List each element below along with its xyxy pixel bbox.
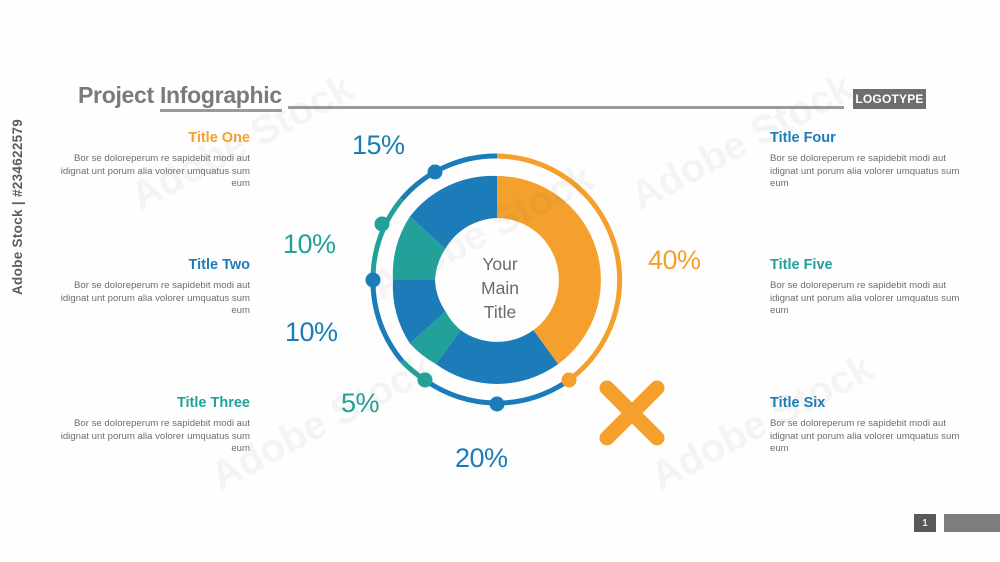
dot-20 [490,397,505,412]
block-body-three: Bor se doloreperum re sapidebit modi aut… [58,418,250,456]
block-title-four: Title Four [770,130,962,146]
block-body-one: Bor se doloreperum re sapidebit modi aut… [58,153,250,191]
percent-label-10b: 10% [285,317,338,348]
dot-10b [366,273,381,288]
dot-40 [562,373,577,388]
text-block-title-four: Title Four Bor se doloreperum re sapideb… [770,130,962,191]
block-title-one: Title One [58,130,250,146]
block-body-six: Bor se doloreperum re sapidebit modi aut… [770,418,962,456]
donut-center-title: Your Main Title [447,252,553,324]
center-line-2: Main [447,276,553,300]
slide-header: Project Infographic LOGOTYPE [0,40,1000,80]
center-line-3: Title [447,300,553,324]
block-body-five: Bor se doloreperum re sapidebit modi aut… [770,280,962,318]
watermark-left: Adobe Stock | #234622579 [10,119,25,295]
block-body-four: Bor se doloreperum re sapidebit modi aut… [770,153,962,191]
footer-bar [944,514,1000,532]
text-block-title-six: Title Six Bor se doloreperum re sapidebi… [770,395,962,456]
percent-label-5: 5% [341,388,379,419]
percent-label-15: 15% [352,130,405,161]
block-title-five: Title Five [770,257,962,273]
page-number-badge: 1 [914,514,936,532]
center-line-1: Your [447,252,553,276]
percent-label-40: 40% [648,245,701,276]
block-body-two: Bor se doloreperum re sapidebit modi aut… [58,280,250,318]
page-title: Project Infographic [78,82,282,109]
page-title-first: Project [78,82,160,108]
dot-10a [375,217,390,232]
dot-15 [428,165,443,180]
logotype-badge: LOGOTYPE [853,89,926,109]
text-block-title-three: Title Three Bor se doloreperum re sapide… [58,395,250,456]
page-number: 1 [922,518,928,529]
venus-cross-icon [607,388,657,438]
block-title-two: Title Two [58,257,250,273]
logotype-label: LOGOTYPE [855,92,923,106]
page-title-underlined: Infographic [160,82,282,112]
text-block-title-five: Title Five Bor se doloreperum re sapideb… [770,257,962,318]
text-block-title-two: Title Two Bor se doloreperum re sapidebi… [58,257,250,318]
header-divider [288,106,844,109]
percent-label-10a: 10% [283,229,336,260]
text-block-title-one: Title One Bor se doloreperum re sapidebi… [58,130,250,191]
block-title-six: Title Six [770,395,962,411]
dot-5 [418,373,433,388]
percent-label-20: 20% [455,443,508,474]
block-title-three: Title Three [58,395,250,411]
slide-canvas: Project Infographic LOGOTYPE Title One B… [0,0,1000,562]
